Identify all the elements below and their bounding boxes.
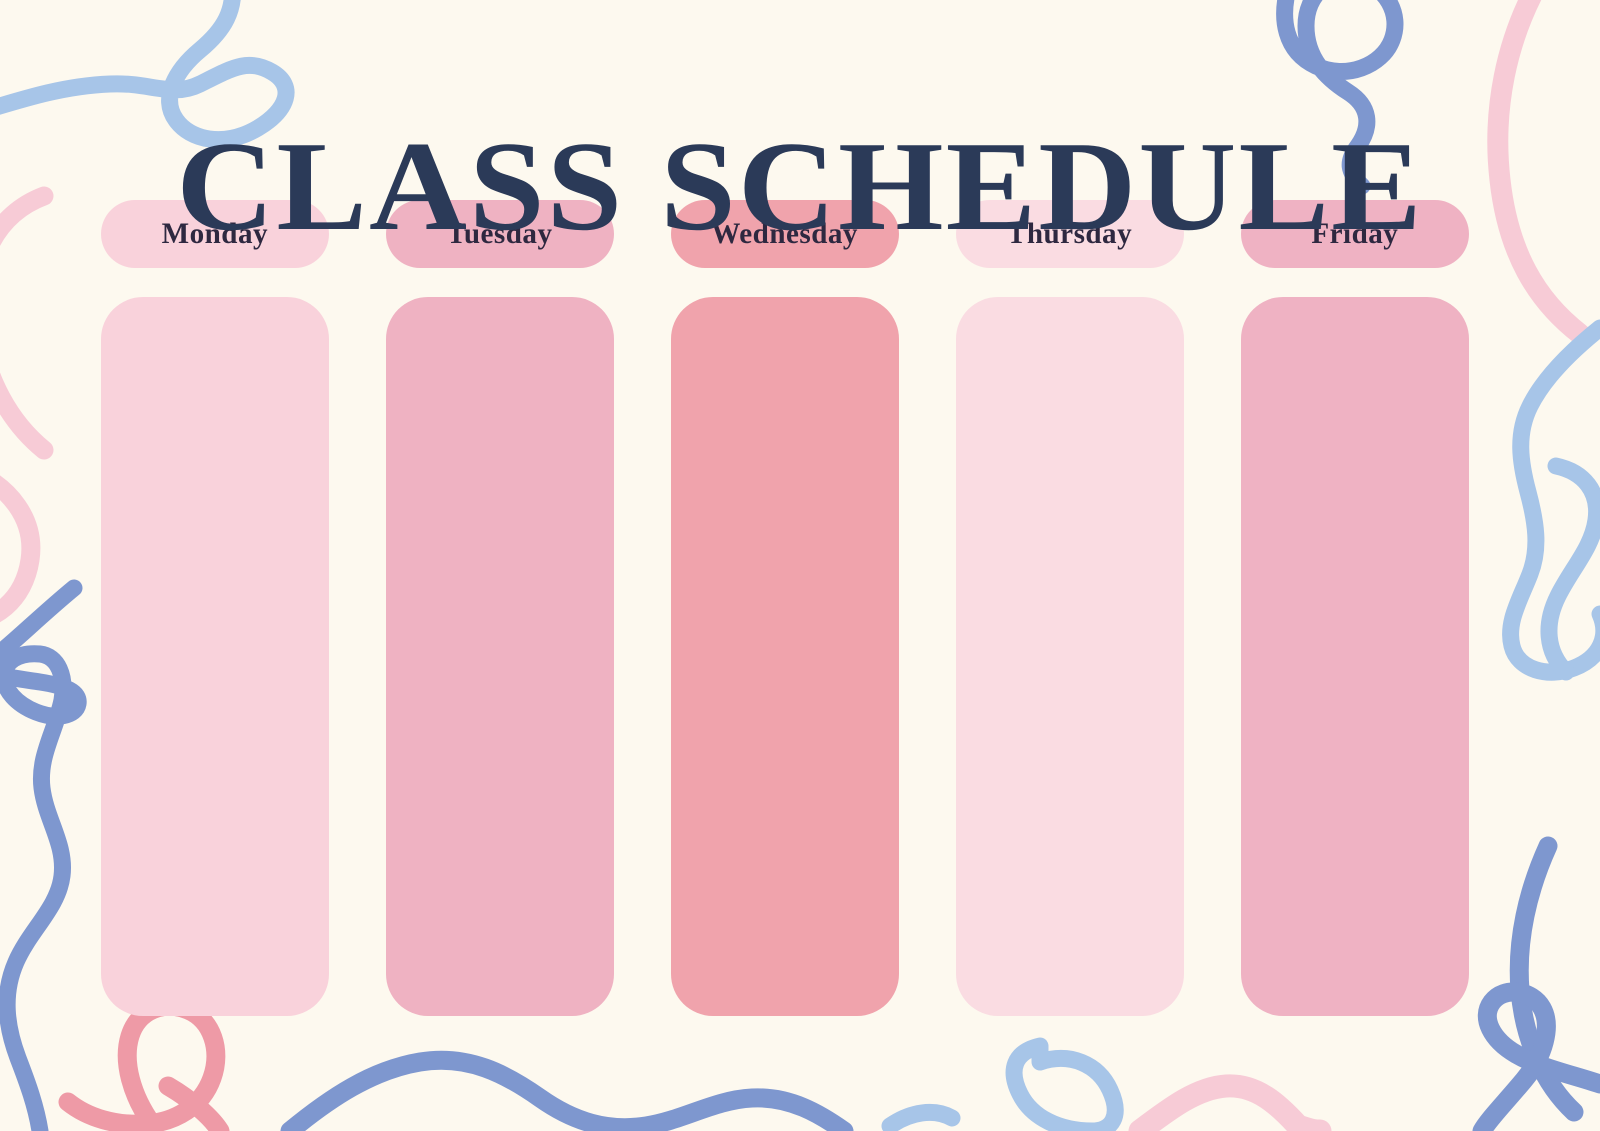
day-column-wednesday: Wednesday: [671, 200, 899, 1016]
bottom-left-blue-arc: [890, 1112, 952, 1126]
left-edge-pink-loop: [0, 470, 31, 622]
right-edge-blue-squiggle: [1511, 328, 1600, 672]
class-schedule-canvas: CLASS SCHEDULE Monday Tuesday Wednesday: [0, 0, 1600, 1131]
day-column-thursday: Thursday: [956, 200, 1184, 1016]
left-edge-blue-zigzag: [0, 588, 78, 1131]
day-column-tuesday: Tuesday: [386, 200, 614, 1016]
right-edge-periwinkle-stroke: [1519, 846, 1574, 1112]
day-column-monday: Monday: [101, 200, 329, 1016]
bottom-blue-wave: [290, 1060, 844, 1131]
day-slot-wednesday[interactable]: [671, 297, 899, 1016]
bottom-left-coral-loop: [68, 1006, 216, 1124]
day-slot-thursday[interactable]: [956, 297, 1184, 1016]
bottom-right-blue-circle: [1014, 1046, 1115, 1131]
right-edge-blue-squiggle-lower: [1549, 466, 1597, 672]
day-slot-tuesday[interactable]: [386, 297, 614, 1016]
bottom-right-pink-wave: [1140, 1086, 1320, 1131]
page-title: CLASS SCHEDULE: [0, 122, 1600, 250]
bottom-left-coral-tail: [168, 1086, 220, 1131]
day-slot-monday[interactable]: [101, 297, 329, 1016]
day-column-friday: Friday: [1241, 200, 1469, 1016]
day-slot-friday[interactable]: [1241, 297, 1469, 1016]
bottom-right-periwinkle-loop: [1482, 992, 1600, 1131]
schedule-grid: Monday Tuesday Wednesday Thursday: [101, 200, 1469, 1016]
